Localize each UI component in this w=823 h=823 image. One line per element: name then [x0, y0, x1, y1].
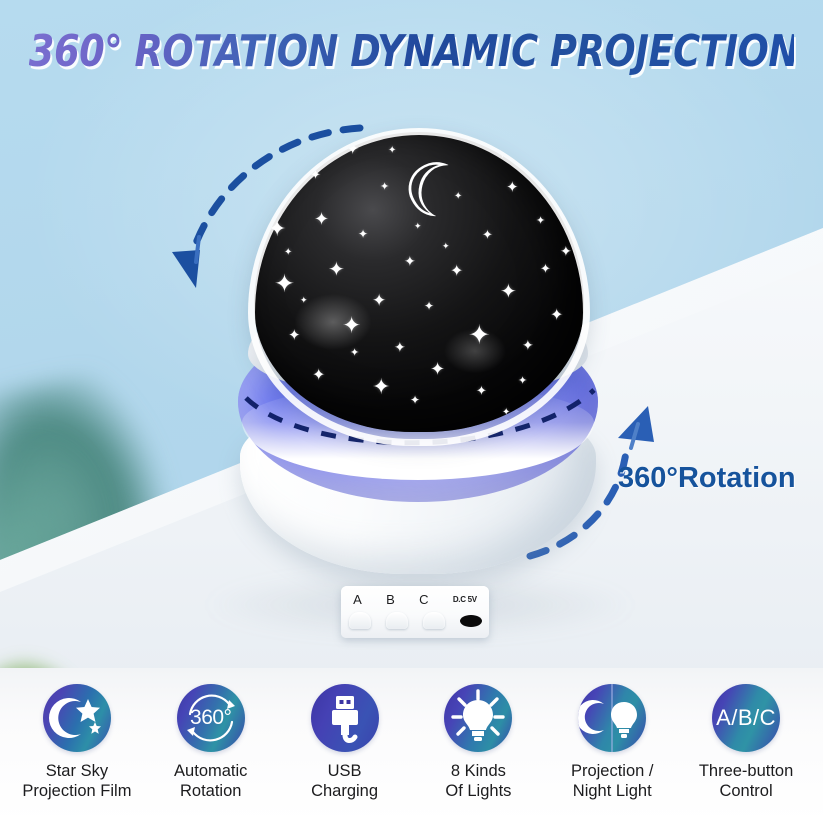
button-label-c: C — [419, 592, 428, 607]
dc-port-label: D.C 5V — [453, 595, 477, 604]
abc-icon-text: A/B/C — [716, 705, 776, 731]
star-motif: ✦ — [506, 180, 519, 195]
star-motif: ✦ — [476, 384, 487, 397]
star-sky-dome: ☾ ✦ ✦ ✦ ✦ ✦ ✦ ✦ ✦ ✦ ✦ ✦ ✦ ✦ ✦ ✦ ✦ ✦ ✦ — [254, 132, 584, 432]
star-motif: ✦ — [346, 142, 359, 158]
star-motif: ✦ — [404, 254, 416, 268]
feature-8-kinds-lights: 8 Kinds Of Lights — [411, 684, 545, 801]
moon-star-icon — [43, 684, 111, 752]
feature-label-line: Charging — [311, 781, 378, 801]
feature-projection-night-light: Projection / Night Light — [545, 684, 679, 801]
star-motif: ✦ — [388, 146, 396, 156]
star-motif: ✦ — [502, 408, 510, 418]
star-motif: ✦ — [442, 242, 450, 251]
feature-label-line: USB — [311, 761, 378, 781]
feature-label-line: Automatic — [174, 761, 247, 781]
product-infographic: ☾ ✦ ✦ ✦ ✦ ✦ ✦ ✦ ✦ ✦ ✦ ✦ ✦ ✦ ✦ ✦ ✦ ✦ ✦ — [0, 0, 823, 823]
star-motif: ✦ — [358, 228, 368, 240]
star-motif: ✦ — [536, 216, 545, 227]
usb-icon — [311, 684, 379, 752]
feature-label-line: Star Sky — [22, 761, 131, 781]
star-motif: ✦ — [482, 228, 493, 241]
rotation-callout-label: 360°Rotation — [618, 462, 796, 495]
feature-label-star-sky: Star Sky Projection Film — [22, 761, 131, 801]
star-motif: ✦ — [540, 262, 551, 275]
feature-label-line: Night Light — [571, 781, 654, 801]
rotation-360-icon: 360° — [177, 684, 245, 752]
product-photo-scene: ☾ ✦ ✦ ✦ ✦ ✦ ✦ ✦ ✦ ✦ ✦ ✦ ✦ ✦ ✦ ✦ ✦ ✦ ✦ — [0, 0, 823, 676]
star-motif: ✦ — [394, 340, 406, 354]
button-label-b: B — [386, 592, 395, 607]
control-panel: A B C D.C 5V — [341, 586, 489, 638]
feature-label-projection-night-light: Projection / Night Light — [571, 761, 654, 801]
feature-strip: Star Sky Projection Film 360° Automatic … — [0, 668, 823, 823]
star-motif: ✦ — [560, 244, 572, 258]
moon-motif: ☾ — [394, 147, 476, 235]
star-motif: ✦ — [372, 376, 390, 398]
star-motif: ✦ — [410, 394, 420, 406]
star-motif: ✦ — [518, 376, 527, 387]
star-motif: ✦ — [468, 322, 491, 349]
button-label-a: A — [353, 592, 362, 607]
star-motif: ✦ — [522, 338, 534, 352]
feature-label-line: Of Lights — [445, 781, 511, 801]
star-motif: ✦ — [550, 308, 563, 324]
star-motif: ✦ — [372, 292, 386, 309]
feature-label-three-button-control: Three-button Control — [699, 761, 793, 801]
star-motif: ✦ — [274, 272, 295, 297]
star-motif: ✦ — [414, 222, 422, 231]
feature-label-line: 8 Kinds — [445, 761, 511, 781]
star-motif: ✦ — [288, 328, 301, 343]
feature-label-line: Control — [699, 781, 793, 801]
star-motif: ✦ — [312, 368, 325, 384]
star-motif: ✦ — [380, 182, 389, 193]
abc-buttons-icon: A/B/C — [712, 684, 780, 752]
star-motif: ✦ — [450, 264, 463, 280]
star-motif: ✦ — [268, 218, 286, 240]
button-c[interactable] — [423, 612, 445, 629]
control-panel-labels: A B C D.C 5V — [341, 592, 489, 607]
button-b[interactable] — [386, 612, 408, 629]
star-motif: ✦ — [500, 282, 517, 302]
star-motif: ✦ — [342, 314, 361, 337]
feature-label-line: Rotation — [174, 781, 247, 801]
feature-automatic-rotation: 360° Automatic Rotation — [144, 684, 278, 801]
feature-three-button-control: A/B/C Three-button Control — [679, 684, 813, 801]
star-motif: ✦ — [328, 260, 345, 280]
feature-label-automatic-rotation: Automatic Rotation — [174, 761, 247, 801]
feature-star-sky: Star Sky Projection Film — [10, 684, 144, 801]
control-panel-buttons — [341, 612, 489, 629]
star-motif: ✦ — [310, 168, 321, 181]
star-motif: ✦ — [498, 150, 507, 161]
star-motif: ✦ — [300, 296, 308, 305]
star-motif: ✦ — [430, 360, 445, 378]
star-motif: ✦ — [284, 248, 292, 258]
feature-label-line: Projection / — [571, 761, 654, 781]
star-motif: ✦ — [314, 210, 329, 228]
lightbulb-rays-icon — [444, 684, 512, 752]
page-title: 360° ROTATION DYNAMIC PROJECTION — [29, 26, 794, 77]
star-motif: ✦ — [454, 192, 462, 202]
feature-label-8-kinds-lights: 8 Kinds Of Lights — [445, 761, 511, 801]
dc-power-port[interactable] — [460, 615, 482, 627]
star-projector-lamp: ☾ ✦ ✦ ✦ ✦ ✦ ✦ ✦ ✦ ✦ ✦ ✦ ✦ ✦ ✦ ✦ ✦ ✦ ✦ — [198, 128, 638, 588]
star-motif: ✦ — [350, 348, 359, 359]
moon-bulb-split-icon — [578, 684, 646, 752]
star-motif: ✦ — [548, 188, 556, 197]
feature-label-line: Projection Film — [22, 781, 131, 801]
feature-label-line: Three-button — [699, 761, 793, 781]
feature-label-usb-charging: USB Charging — [311, 761, 378, 801]
star-motif: ✦ — [424, 300, 434, 312]
feature-usb-charging: USB Charging — [278, 684, 412, 801]
button-a[interactable] — [349, 612, 371, 629]
